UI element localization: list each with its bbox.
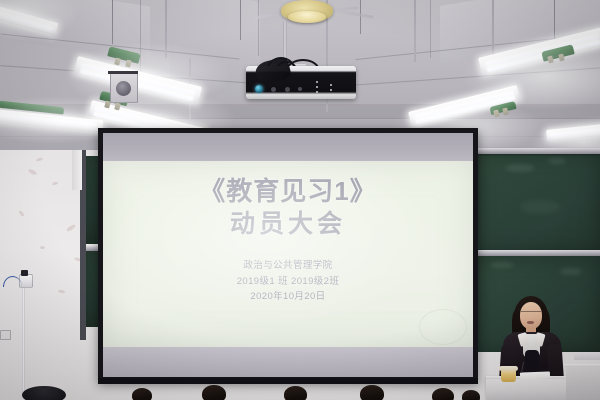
front-desk-row [574,352,600,360]
light-hanger-rod-7 [554,0,555,42]
projector-vent [271,87,276,92]
chalk-smudge [560,268,582,275]
wall-mark [66,224,77,233]
wall-speaker-bracket [108,71,138,74]
slide-subtitle-line3: 2020年10月20日 [237,289,340,305]
camera-device [21,270,28,276]
wall-mark [18,210,25,217]
screen-unlit-band-top [103,133,473,161]
microphone-stand-base [22,386,66,400]
audience-head [432,388,454,400]
screen-unlit-band-bottom [103,347,473,377]
projector-indicator [330,89,332,91]
chalkboard-rail-top-right [470,148,600,154]
light-hanger-rod-1 [165,0,167,58]
screen-bottom-shadow [98,378,478,384]
wall-mark [58,289,65,293]
wall-mark [40,246,45,249]
light-hanger-rod-8 [240,0,241,40]
projector-indicator [316,81,318,83]
door-jamb [72,150,82,190]
ceiling-seam-v3 [430,0,431,58]
presenter-glasses [521,311,541,312]
projector-indicator [316,86,318,88]
audience-head [462,390,480,400]
presenter-inner-top [525,350,539,374]
light-hanger-rod-6 [112,0,113,44]
projector-lens [255,85,263,93]
projector-indicator [330,84,332,86]
wall-mark [36,157,44,162]
audience-head [284,386,307,400]
slide-subtitle-line1: 政治与公共管理学院 [237,258,340,274]
presenter-mouth [527,321,534,324]
slide-subtitle: 政治与公共管理学院 2019级1 班 2019级2班 2020年10月20日 [237,258,340,305]
projector-vent [285,87,290,92]
chalk-smudge [490,262,514,268]
chalk-smudge [520,200,560,214]
light-hanger-rod-9 [360,0,361,34]
lectern-side-right [566,366,600,400]
wall-speaker-cone [116,81,131,96]
wall-outlet [0,330,11,340]
fan-motor-light [288,11,326,23]
ceiling-seam-4 [350,67,600,86]
classroom-photo: 《教育见习1》 动员大会 政治与公共管理学院 2019级1 班 2019级2班 … [0,0,600,400]
chalk-smudge [548,158,566,164]
projected-slide: 《教育见习1》 动员大会 政治与公共管理学院 2019级1 班 2019级2班 … [103,161,473,347]
projection-screen-frame: 《教育见习1》 动员大会 政治与公共管理学院 2019级1 班 2019级2班 … [98,128,478,382]
projection-screen-surface: 《教育见习1》 动员大会 政治与公共管理学院 2019级1 班 2019级2班 … [103,133,473,377]
lectern [486,378,572,400]
lectern-side-top-edge [564,364,600,367]
audience-head [202,385,226,400]
beverage-cup-lid [499,366,518,371]
slide-watermark [419,309,467,345]
wall-mark [52,181,59,185]
light-hanger-rod-5 [492,0,494,56]
beverage-cup [501,370,516,382]
slide-title-line1: 《教育见习1》 [199,177,376,206]
microphone-stand-pole [22,285,25,395]
projector-indicator [316,91,318,93]
audience-head [132,388,152,400]
audience-head [360,385,384,400]
projector-vent [298,87,302,91]
slide-title-line2: 动员大会 [230,210,346,239]
slide-content: 《教育见习1》 动员大会 政治与公共管理学院 2019级1 班 2019级2班 … [103,161,473,347]
chalk-smudge [505,164,535,172]
presenter-head [520,302,542,329]
slide-subtitle-line2: 2019级1 班 2019级2班 [237,274,340,290]
ceiling-seam-v2 [258,0,259,56]
light-hanger-rod-4 [414,0,416,62]
wall-mark [28,168,38,176]
lectern-papers [520,371,550,379]
